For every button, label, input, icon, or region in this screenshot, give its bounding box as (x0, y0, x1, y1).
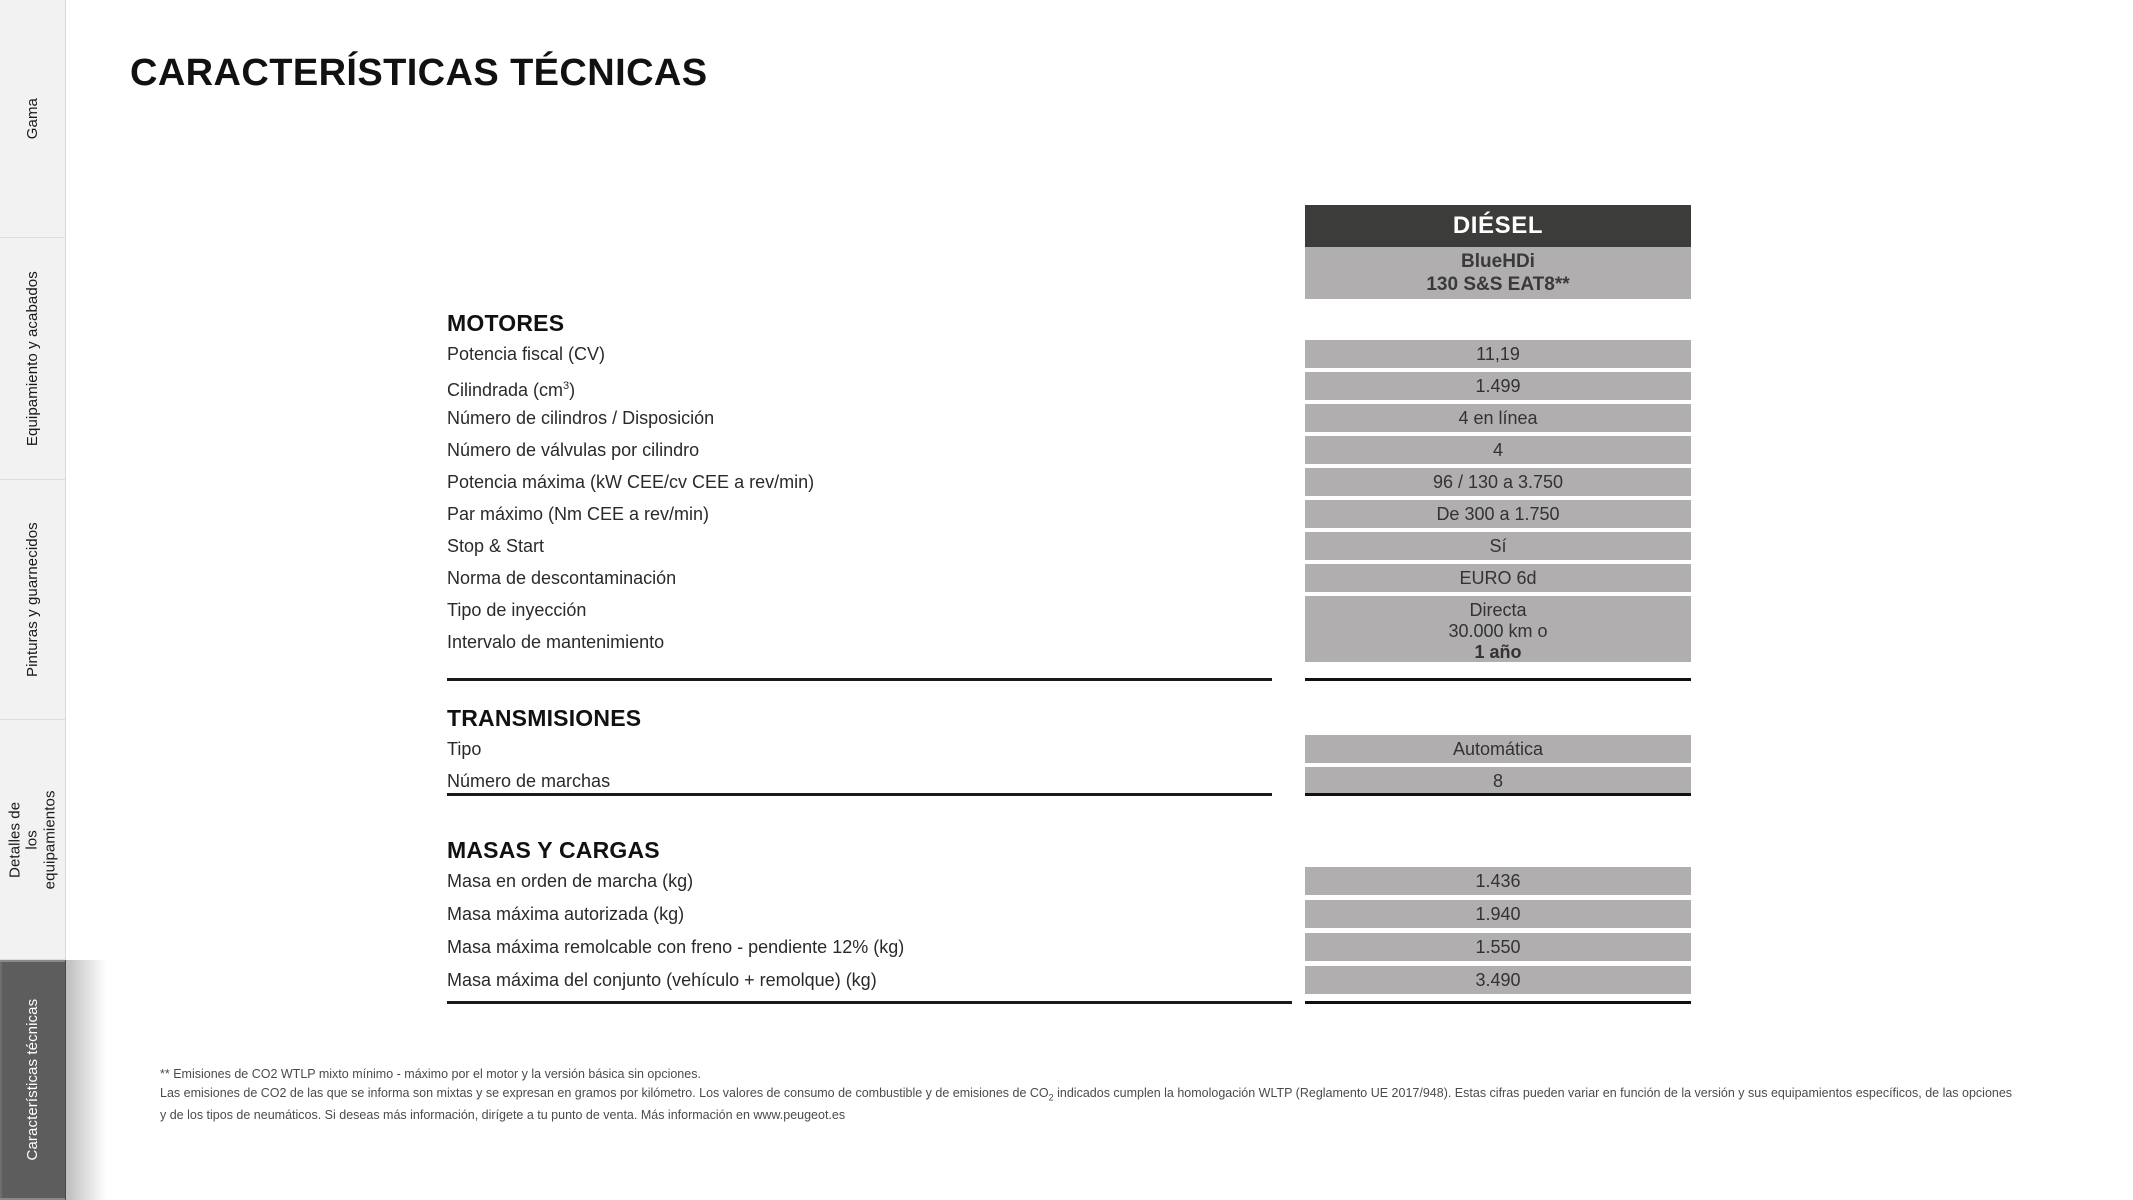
row-value-line1: 30.000 km o (1448, 621, 1547, 642)
column-underline (1305, 678, 1691, 681)
section-underline (447, 678, 1272, 681)
row-label: Tipo de inyección (447, 594, 586, 626)
active-tab-shadow (66, 960, 106, 1200)
row-value: 8 (1305, 767, 1691, 795)
table-row: Par máximo (Nm CEE a rev/min) De 300 a 1… (447, 498, 1697, 530)
footnote-line-1: ** Emisiones de CO2 WTLP mixto mínimo - … (160, 1065, 2020, 1084)
engine-column-header: DIÉSEL BlueHDi 130 S&S EAT8** (1305, 205, 1691, 299)
table-row: Intervalo de mantenimiento 30.000 km o 1… (447, 626, 1697, 658)
sidebar-item-caracteristicas-tecnicas[interactable]: Características técnicas (0, 960, 66, 1200)
fuel-type-badge: DIÉSEL (1305, 205, 1691, 247)
engine-name-label: BlueHDi 130 S&S EAT8** (1305, 247, 1691, 299)
table-row: Cilindrada (cm3) 1.499 (447, 370, 1697, 402)
sidebar-item-pinturas-y-guarnecidos[interactable]: Pinturas y guarnecidos (0, 480, 66, 720)
table-row: Número de cilindros / Disposición 4 en l… (447, 402, 1697, 434)
row-value: 1.940 (1305, 900, 1691, 928)
table-row: Masa en orden de marcha (kg) 1.436 (447, 865, 1697, 898)
section-underline (447, 1001, 1292, 1004)
row-label: Masa máxima remolcable con freno - pendi… (447, 931, 904, 964)
sidebar-item-label: Características técnicas (24, 999, 41, 1161)
page-title: CARACTERÍSTICAS TÉCNICAS (130, 52, 708, 95)
sidebar-item-gama[interactable]: Gama (0, 0, 66, 238)
row-value: De 300 a 1.750 (1305, 500, 1691, 528)
row-value: EURO 6d (1305, 564, 1691, 592)
sidebar-item-label: Detalles de los equipamientos (7, 790, 59, 889)
row-value: 1.499 (1305, 372, 1691, 400)
row-value: 30.000 km o 1 año (1305, 622, 1691, 662)
row-label: Cilindrada (cm3) (447, 370, 575, 402)
row-value: Sí (1305, 532, 1691, 560)
table-row: Masa máxima del conjunto (vehículo + rem… (447, 964, 1697, 997)
footnotes: ** Emisiones de CO2 WTLP mixto mínimo - … (160, 1065, 2020, 1125)
table-row: Potencia máxima (kW CEE/cv CEE a rev/min… (447, 466, 1697, 498)
table-row: Masa máxima remolcable con freno - pendi… (447, 931, 1697, 964)
row-label: Norma de descontaminación (447, 562, 676, 594)
table-row: Masa máxima autorizada (kg) 1.940 (447, 898, 1697, 931)
footnote-line-2: Las emisiones de CO2 de las que se infor… (160, 1084, 2020, 1125)
sidebar-item-label: Pinturas y guarnecidos (24, 522, 41, 677)
section-underline (447, 793, 1272, 796)
row-label: Número de cilindros / Disposición (447, 402, 714, 434)
row-value: 1.436 (1305, 867, 1691, 895)
table-row: Potencia fiscal (CV) 11,19 (447, 338, 1697, 370)
row-value: Automática (1305, 735, 1691, 763)
technical-specifications-page: Gama Equipamiento y acabados Pinturas y … (0, 0, 2133, 1200)
section-rows: Tipo Automática Número de marchas 8 (447, 733, 1697, 797)
row-value: 4 en línea (1305, 404, 1691, 432)
column-underline (1305, 1001, 1691, 1004)
section-title: MASAS Y CARGAS (447, 837, 660, 864)
row-label: Número de válvulas por cilindro (447, 434, 699, 466)
row-label: Tipo (447, 733, 481, 765)
row-label: Masa en orden de marcha (kg) (447, 865, 693, 898)
sidebar-item-equipamiento-y-acabados[interactable]: Equipamiento y acabados (0, 238, 66, 480)
row-label: Masa máxima del conjunto (vehículo + rem… (447, 964, 877, 997)
row-label: Par máximo (Nm CEE a rev/min) (447, 498, 709, 530)
section-title: TRANSMISIONES (447, 705, 641, 732)
sidebar-item-label: Gama (24, 98, 41, 139)
footnote-text-a: Las emisiones de CO2 de las que se infor… (160, 1086, 1049, 1100)
table-row: Stop & Start Sí (447, 530, 1697, 562)
row-value: 1.550 (1305, 933, 1691, 961)
sidebar-tabs: Gama Equipamiento y acabados Pinturas y … (0, 0, 66, 1200)
table-row: Norma de descontaminación EURO 6d (447, 562, 1697, 594)
table-row: Número de válvulas por cilindro 4 (447, 434, 1697, 466)
section-rows: Masa en orden de marcha (kg) 1.436 Masa … (447, 865, 1697, 997)
row-value: 96 / 130 a 3.750 (1305, 468, 1691, 496)
row-label: Potencia máxima (kW CEE/cv CEE a rev/min… (447, 466, 814, 498)
row-label: Stop & Start (447, 530, 544, 562)
sidebar-item-label: Equipamiento y acabados (24, 271, 41, 446)
row-value: Directa (1305, 596, 1691, 624)
section-title: MOTORES (447, 310, 564, 337)
row-label: Potencia fiscal (CV) (447, 338, 605, 370)
section-rows: Potencia fiscal (CV) 11,19 Cilindrada (c… (447, 338, 1697, 658)
row-label: Intervalo de mantenimiento (447, 626, 664, 658)
row-value: 4 (1305, 436, 1691, 464)
row-value: 11,19 (1305, 340, 1691, 368)
row-value: 3.490 (1305, 966, 1691, 994)
table-row: Tipo Automática (447, 733, 1697, 765)
sidebar-item-detalles-de-los-equipamientos[interactable]: Detalles de los equipamientos (0, 720, 66, 960)
row-label: Masa máxima autorizada (kg) (447, 898, 684, 931)
row-value-line2: 1 año (1474, 642, 1521, 663)
column-underline (1305, 793, 1691, 796)
